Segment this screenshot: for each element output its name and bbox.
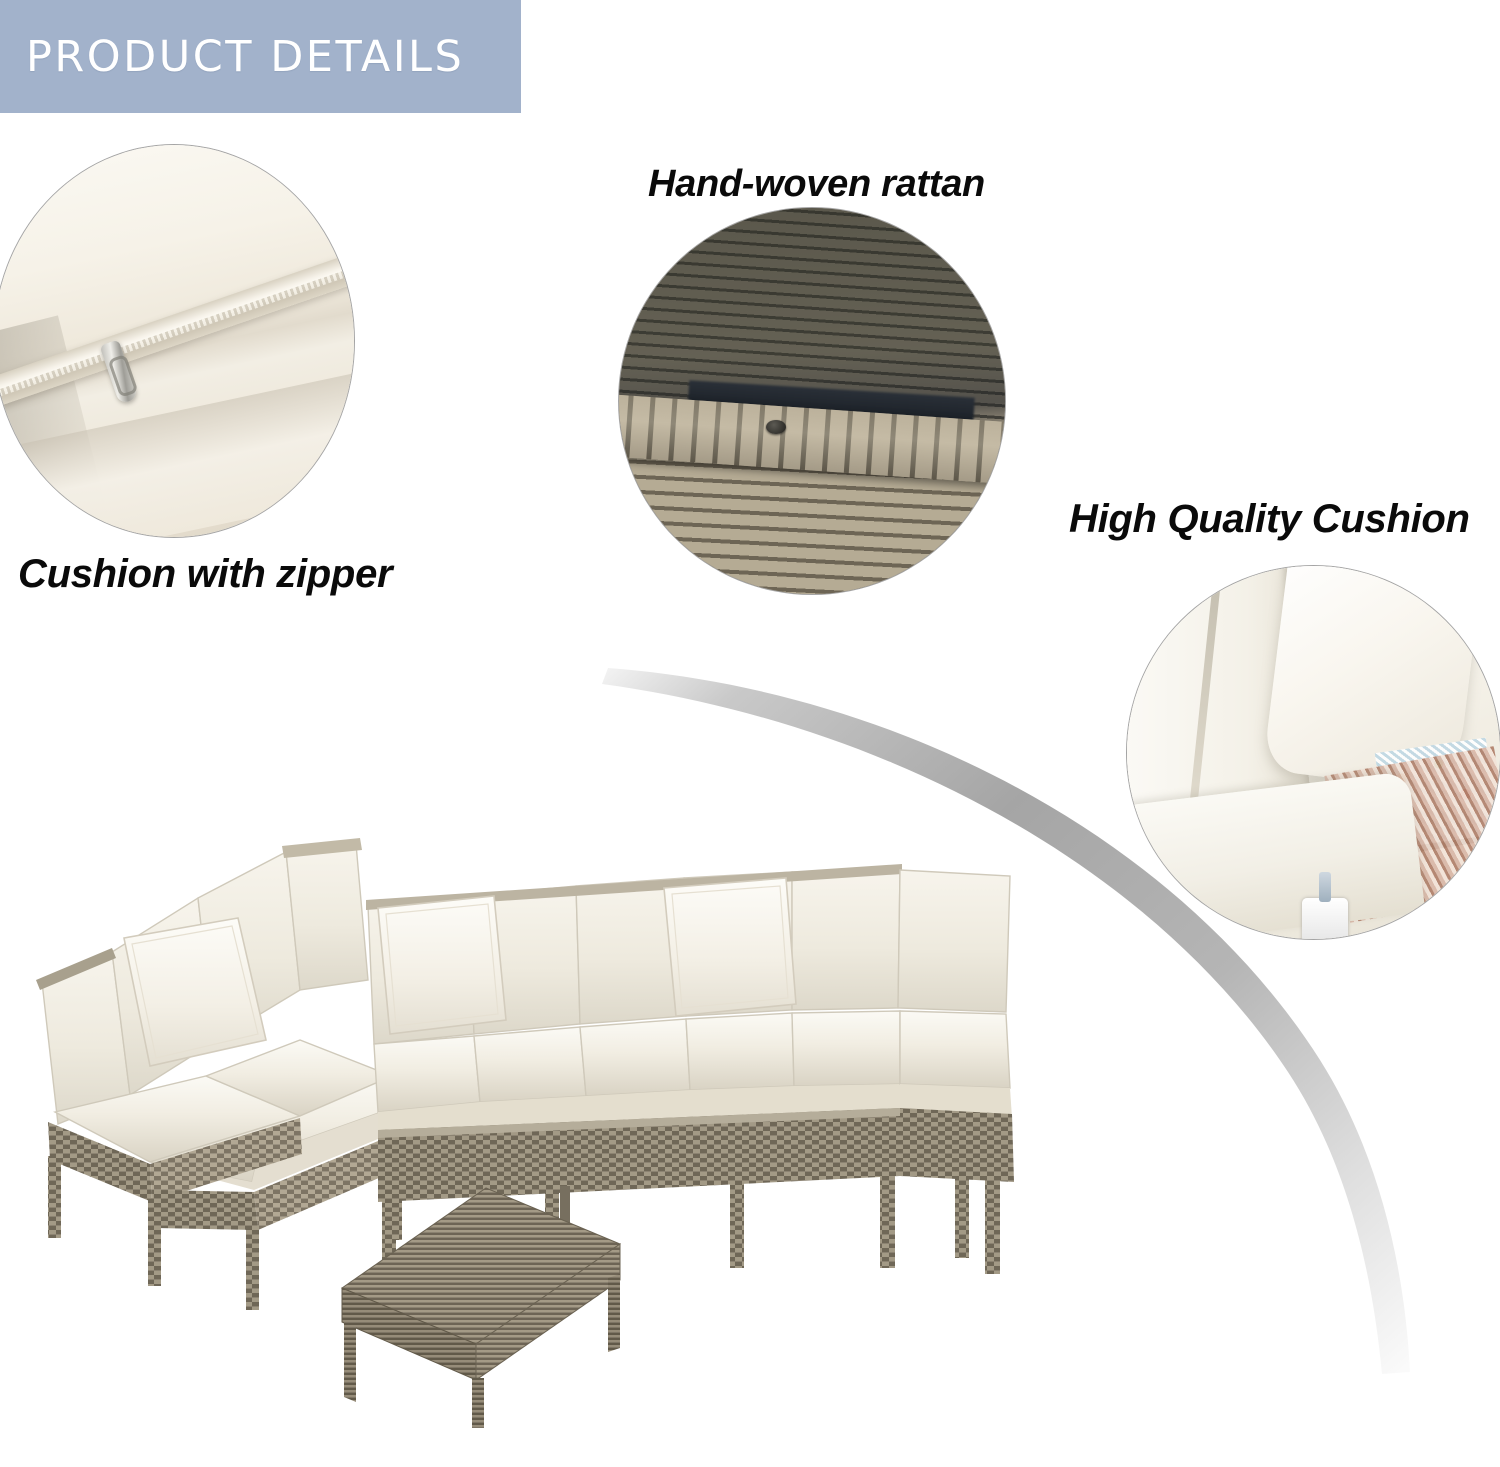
cushion-zipper-image	[0, 145, 354, 537]
product-details-banner: PRODUCT DETAILS	[0, 0, 521, 113]
rattan-weave-image	[619, 208, 1005, 594]
wicker-coffee-table	[280, 1180, 640, 1430]
high-quality-cushion-photo	[1127, 566, 1500, 939]
banner-title: PRODUCT DETAILS	[26, 32, 464, 82]
product-details-page: PRODUCT DETAILS Cushion with zipper Hand…	[0, 0, 1500, 1467]
bottle-object	[1302, 898, 1348, 939]
hand-woven-rattan-photo	[619, 208, 1005, 594]
cushion-zipper-photo	[0, 145, 354, 537]
high-quality-cushion-label: High Quality Cushion	[1069, 497, 1470, 542]
cushion-zipper-label: Cushion with zipper	[18, 552, 392, 597]
cushion-closeup-image	[1127, 566, 1500, 939]
hand-woven-rattan-label: Hand-woven rattan	[648, 163, 985, 206]
rattan-screw-icon	[766, 420, 786, 434]
